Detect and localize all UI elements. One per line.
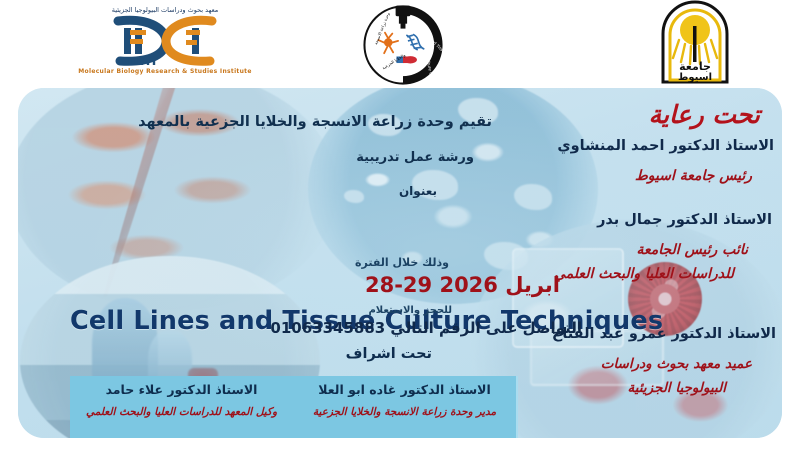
header-bar: معهد بحوث ودراسات البيولوجيا الجزيئية	[0, 0, 800, 88]
institute-line: تقيم وحدة زراعة الانسجة والخلايا الجزعية…	[138, 114, 492, 130]
patronage-heading: تحت رعاية	[649, 100, 760, 129]
patron-title-vice-president-line1: نائب رئيس الجامعة	[636, 242, 748, 258]
supervisor-cell: الاستاذ الدكتور غاده ابو العلا مدير وحدة…	[293, 376, 518, 438]
supervisor-name: الاستاذ الدكتور غاده ابو العلا	[293, 382, 516, 397]
patron-title-rector: رئيس جامعة اسيوط	[635, 168, 752, 184]
patron-title-dean-line2: البيولوجيا الجزيئية	[628, 380, 726, 396]
period-label: وذلك خلال الفترة	[355, 256, 449, 269]
mbrsi-logo-caption-ar: معهد بحوث ودراسات البيولوجيا الجزيئية	[75, 6, 255, 14]
unit-logo-icon: وحدة زراعة الانسجة والخلايا الجزعية Stem…	[362, 4, 444, 86]
contact-line[interactable]: التواصل على الرقم التالي 01063345883	[270, 319, 582, 337]
titled-line: بعنوان	[399, 184, 437, 198]
patron-name-rector: الاستاذ الدكتور احمد المنشاوي	[557, 138, 774, 154]
poster-canvas: معهد بحوث ودراسات البيولوجيا الجزيئية	[0, 0, 800, 450]
svg-text:اسيوط: اسيوط	[678, 72, 712, 83]
patron-title-vice-president-line2: للدراسات العليا والبحث العلمي	[554, 266, 734, 282]
supervisors-bar: الاستاذ الدكتور علاء حامد وكيل المعهد لل…	[70, 376, 518, 438]
supervision-label: تحت اشراف	[346, 346, 432, 362]
poster-panel: تقيم وحدة زراعة الانسجة والخلايا الجزعية…	[18, 88, 782, 438]
workshop-date: 28-29 ابريل 2026	[365, 273, 560, 297]
workshop-line: ورشة عمل تدريبية	[356, 150, 474, 165]
assiut-university-icon: جامعة اسيوط	[645, 0, 745, 86]
supervisor-cell: الاستاذ الدكتور علاء حامد وكيل المعهد لل…	[70, 376, 293, 438]
supervisor-role: مدير وحدة زراعة الانسجة والخلايا الجزعية	[293, 406, 516, 418]
tissue-culture-unit-logo: وحدة زراعة الانسجة والخلايا الجزعية Stem…	[350, 0, 460, 88]
mbrsi-logo-caption-en: Molecular Biology Research & Studies Ins…	[75, 68, 255, 75]
patron-name-vice-president: الاستاذ الدكتور جمال بدر	[597, 212, 772, 228]
assiut-university-logo: جامعة اسيوط	[645, 0, 755, 88]
supervisor-name: الاستاذ الدكتور علاء حامد	[70, 382, 293, 397]
patron-title-dean-line1: عميد معهد بحوث ودراسات	[601, 356, 752, 372]
mbrsi-logo: معهد بحوث ودراسات البيولوجيا الجزيئية	[75, 0, 255, 88]
dna-helix-icon	[80, 15, 250, 67]
patron-name-dean: الاستاذ الدكتور عمرو عبد الفتاح	[552, 326, 776, 342]
booking-label: للحجز والاستعلام	[368, 305, 452, 316]
supervisor-role: وكيل المعهد للدراسات العليا والبحث العلم…	[70, 406, 293, 418]
